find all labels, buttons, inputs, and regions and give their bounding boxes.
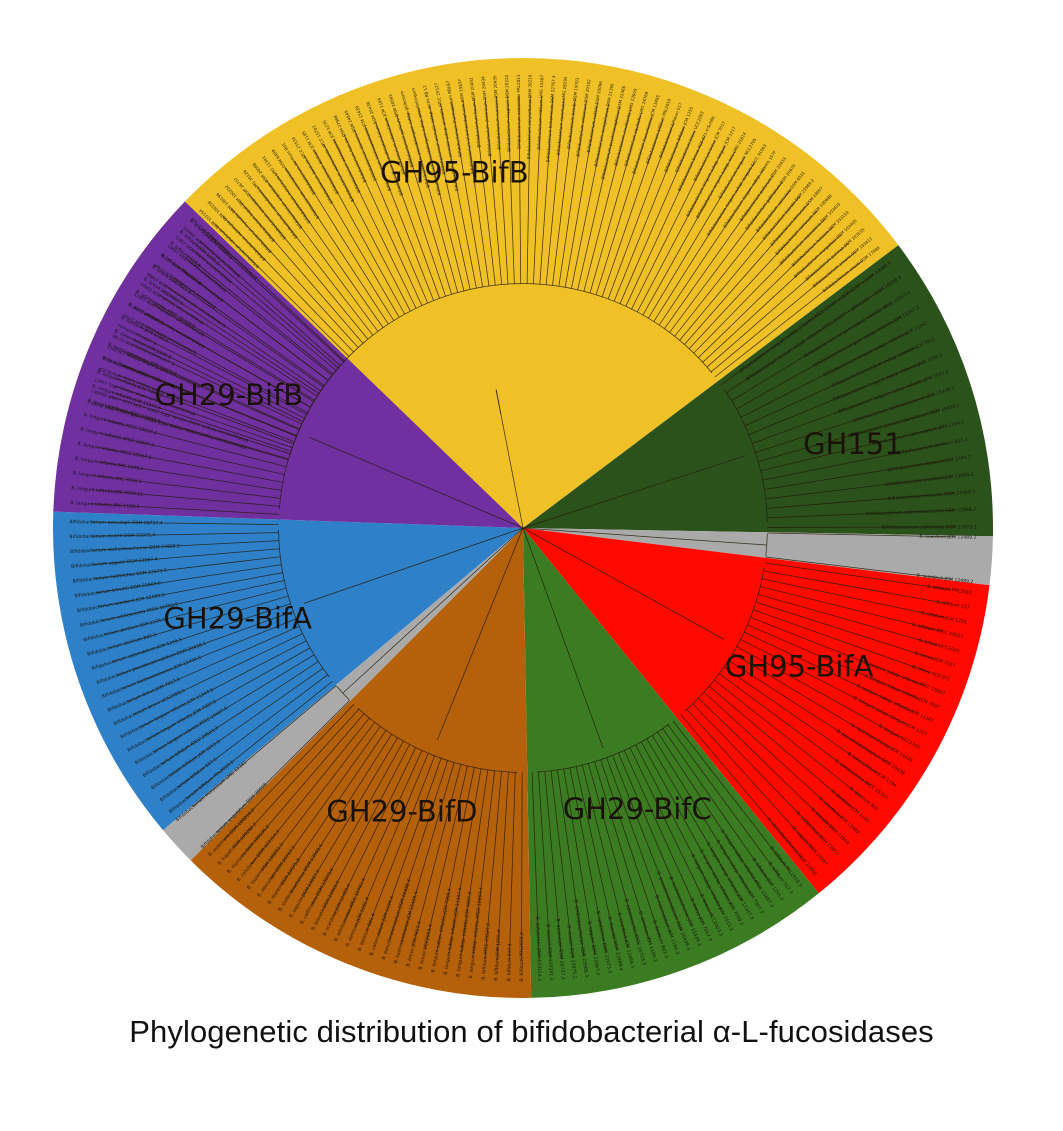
sector-label-gh29-bifd: GH29-BifD: [326, 794, 477, 828]
leaf-label: B. scardovii JCM 12489.1: [919, 534, 976, 541]
radial-phylogram: Bifidobacterium longum subsp. infantis A…: [0, 0, 1063, 1010]
sector-label-gh151: GH151: [803, 427, 903, 461]
sector-label-gh95-bifb: GH95-BifB: [380, 156, 529, 190]
sector-label-gh29-bifb: GH29-BifB: [155, 378, 304, 412]
leaf-label: Bifidobacterium callitrichos DSM 23973.2: [881, 524, 976, 530]
sector-label-gh29-bifc: GH29-BifC: [563, 792, 712, 826]
phylogram-svg: Bifidobacterium longum subsp. infantis A…: [0, 0, 1063, 1010]
leaf-label: B. bifidum PRL2010.4: [519, 932, 525, 982]
sector-label-gh95-bifa: GH95-BifA: [725, 650, 874, 684]
figure-caption: Phylogenetic distribution of bifidobacte…: [0, 1014, 1063, 1050]
figure-root: Bifidobacterium longum subsp. infantis A…: [0, 0, 1063, 1131]
leaf-label: Bifidobacterium asteroides PRL2011: [516, 74, 522, 149]
sector-label-gh29-bifa: GH29-BifA: [163, 602, 312, 636]
